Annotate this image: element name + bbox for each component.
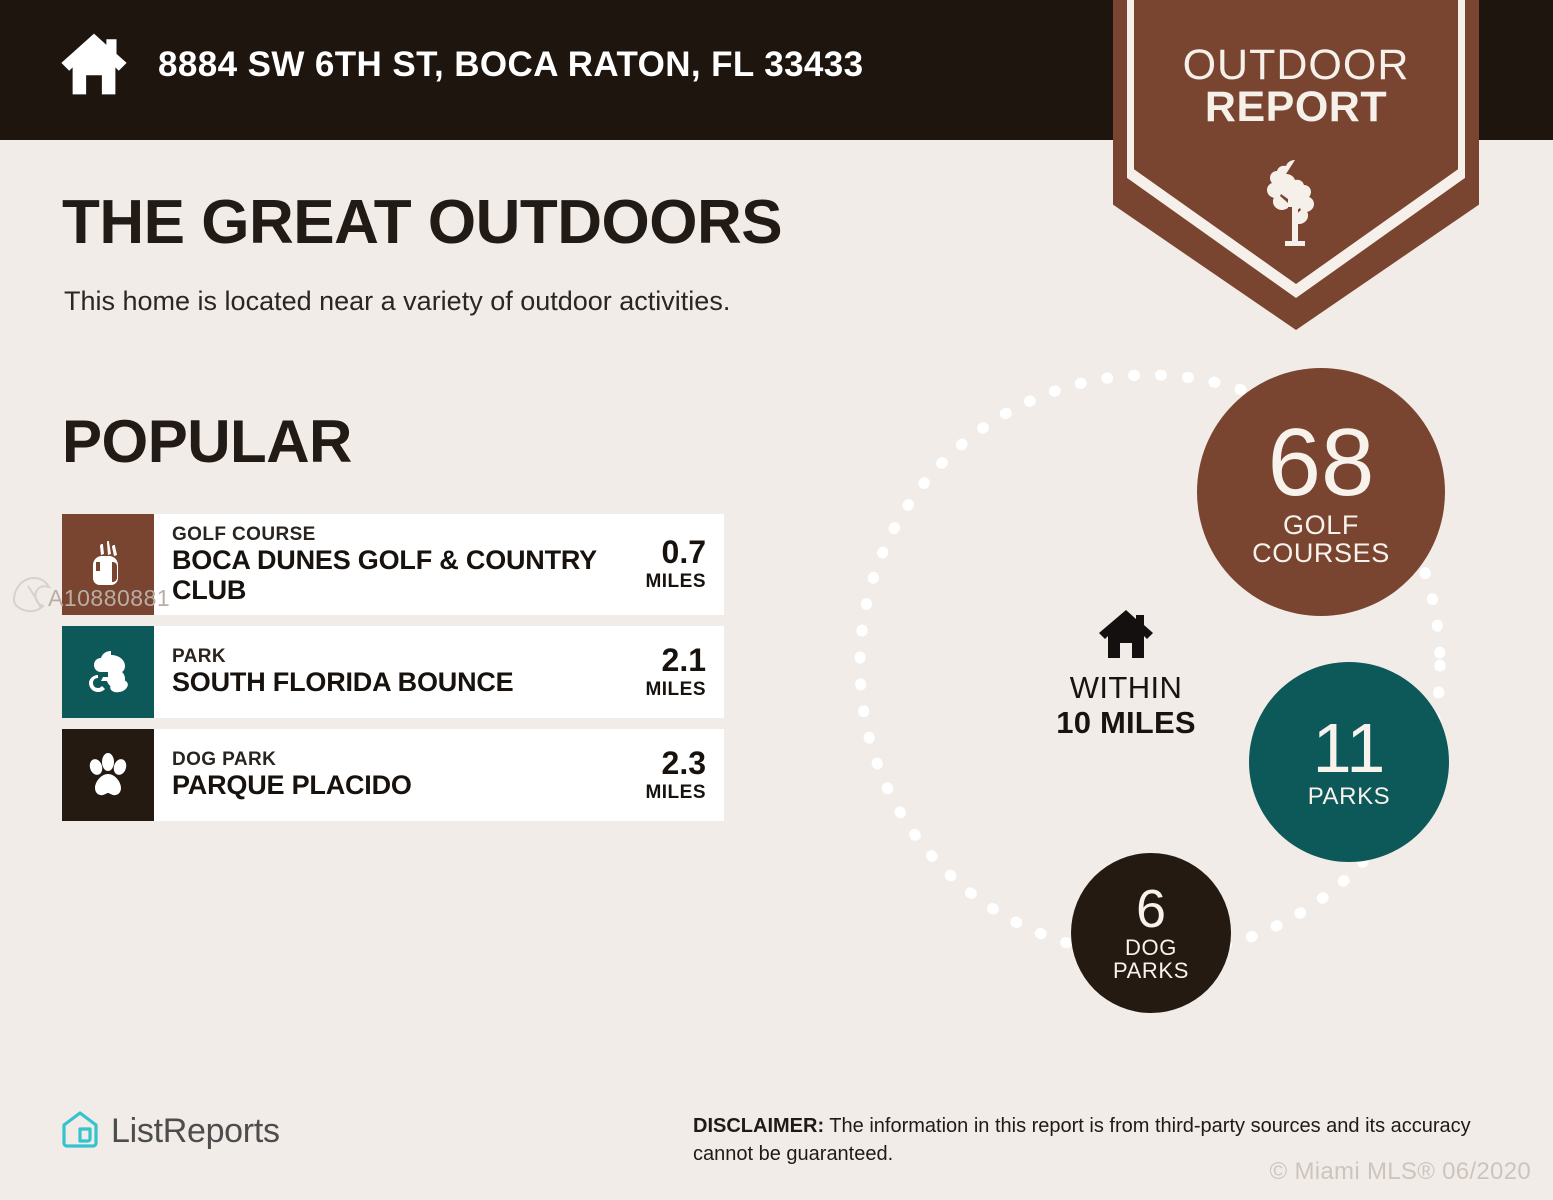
- popular-list: GOLF COURSE BOCA DUNES GOLF & COUNTRY CL…: [62, 514, 724, 832]
- list-item-text: GOLF COURSE BOCA DUNES GOLF & COUNTRY CL…: [154, 514, 610, 615]
- listreports-house-icon: [60, 1110, 100, 1152]
- copyright-notice: © Miami MLS® 06/2020: [1270, 1158, 1531, 1186]
- page-title: THE GREAT OUTDOORS: [62, 192, 782, 254]
- distance-value: 2.1: [662, 644, 706, 676]
- stat-label: GOLF COURSES: [1252, 512, 1390, 567]
- distance-unit: MILES: [645, 782, 706, 804]
- badge-title-line1: OUTDOOR: [1113, 44, 1479, 86]
- stat-label-line2: PARKS: [1113, 960, 1189, 982]
- stat-label: PARKS: [1308, 785, 1391, 809]
- listreports-brand[interactable]: ListReports: [60, 1110, 280, 1152]
- stat-label-line2: COURSES: [1252, 540, 1390, 568]
- list-item-name: SOUTH FLORIDA BOUNCE: [172, 668, 602, 698]
- diagram-center-label: WITHIN 10 MILES: [1026, 608, 1226, 740]
- list-item[interactable]: DOG PARK PARQUE PLACIDO 2.3 MILES: [62, 729, 724, 821]
- badge-title-line2: REPORT: [1113, 86, 1479, 128]
- distance-value: 0.7: [662, 536, 706, 568]
- home-icon: [58, 28, 130, 100]
- stat-value: 68: [1268, 417, 1375, 508]
- list-item-name: PARQUE PLACIDO: [172, 771, 602, 801]
- outdoor-report-page: 8884 SW 6TH ST, BOCA RATON, FL 33433 OUT…: [0, 0, 1553, 1200]
- list-item-text: DOG PARK PARQUE PLACIDO: [154, 729, 610, 821]
- center-line1: WITHIN: [1026, 672, 1226, 703]
- badge-title: OUTDOOR REPORT: [1113, 44, 1479, 128]
- list-item[interactable]: PARK SOUTH FLORIDA BOUNCE 2.1 MILES: [62, 626, 724, 718]
- disclaimer-label: DISCLAIMER:: [693, 1115, 824, 1137]
- list-item-distance: 2.1 MILES: [610, 626, 724, 718]
- popular-heading: POPULAR: [62, 412, 352, 472]
- stat-label-line1: GOLF: [1252, 512, 1390, 540]
- stat-value: 11: [1313, 715, 1386, 782]
- list-item-distance: 0.7 MILES: [610, 514, 724, 615]
- property-address: 8884 SW 6TH ST, BOCA RATON, FL 33433: [158, 47, 864, 82]
- list-item-name: BOCA DUNES GOLF & COUNTRY CLUB: [172, 546, 602, 605]
- stat-label-line1: DOG: [1113, 937, 1189, 959]
- list-item-distance: 2.3 MILES: [610, 729, 724, 821]
- stat-bubble-dog-parks[interactable]: 6 DOG PARKS: [1071, 853, 1231, 1013]
- distance-unit: MILES: [645, 679, 706, 701]
- stat-label: DOG PARKS: [1113, 937, 1189, 982]
- mls-listing-id: A10880881: [48, 585, 170, 612]
- list-item-category: DOG PARK: [172, 749, 602, 771]
- stat-value: 6: [1136, 884, 1166, 935]
- center-line2: 10 MILES: [1026, 706, 1226, 740]
- list-item-category: GOLF COURSE: [172, 524, 602, 546]
- home-icon: [1026, 608, 1226, 660]
- list-item-category: PARK: [172, 646, 602, 668]
- list-item-text: PARK SOUTH FLORIDA BOUNCE: [154, 626, 610, 718]
- paw-print-icon: [62, 729, 154, 821]
- stat-bubble-golf-courses[interactable]: 68 GOLF COURSES: [1197, 368, 1445, 616]
- stat-bubble-parks[interactable]: 11 PARKS: [1249, 662, 1449, 862]
- page-subtitle: This home is located near a variety of o…: [64, 285, 730, 317]
- park-trees-icon: [62, 626, 154, 718]
- distance-unit: MILES: [645, 571, 706, 593]
- distance-value: 2.3: [662, 747, 706, 779]
- listreports-wordmark: ListReports: [111, 1114, 280, 1148]
- header-content: 8884 SW 6TH ST, BOCA RATON, FL 33433: [58, 28, 864, 100]
